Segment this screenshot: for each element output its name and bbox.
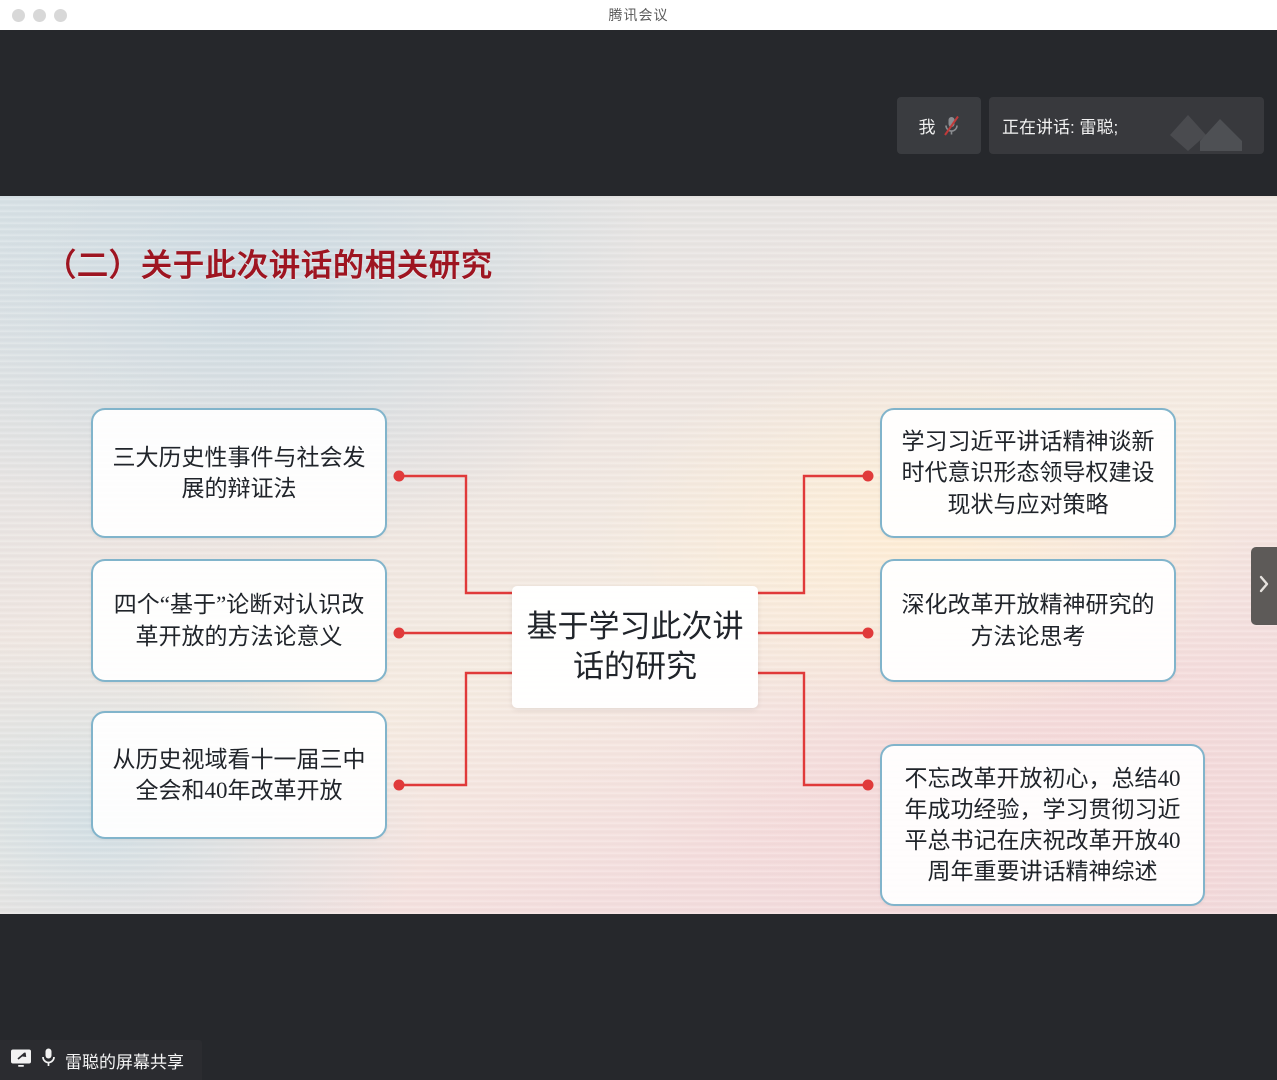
mindmap-node-left-3[interactable]: 从历史视域看十一届三中全会和40年改革开放 [91, 711, 387, 839]
active-speaker-label: 正在讲话: 雷聪; [1002, 113, 1118, 138]
window-title: 腾讯会议 [0, 5, 1277, 25]
shared-slide: （二）关于此次讲话的相关研究 [0, 196, 1277, 914]
mindmap-node-right-2[interactable]: 深化改革开放精神研究的方法论思考 [880, 559, 1176, 682]
node-label: 从历史视域看十一届三中全会和40年改革开放 [105, 744, 373, 806]
mindmap-node-left-2[interactable]: 四个“基于”论断对认识改革开放的方法论意义 [91, 559, 387, 682]
node-label: 不忘改革开放初心，总结40年成功经验，学习贯彻习近平总书记在庆祝改革开放40周年… [894, 763, 1191, 887]
active-speaker-tile[interactable]: 正在讲话: 雷聪; [989, 97, 1264, 154]
self-video-tile[interactable]: 我 [897, 97, 981, 154]
default-avatar-icon [1162, 97, 1258, 154]
meeting-stage: 我 正在讲话: 雷聪; （二）关于此次讲话的相关研究 [0, 30, 1277, 1080]
node-label: 四个“基于”论断对认识改革开放的方法论意义 [105, 589, 373, 651]
expand-panel-handle[interactable] [1251, 547, 1277, 625]
microphone-icon [41, 1047, 56, 1073]
participant-strip: 我 正在讲话: 雷聪; [897, 97, 1264, 154]
mic-muted-icon[interactable] [943, 115, 960, 137]
node-label: 深化改革开放精神研究的方法论思考 [894, 589, 1162, 651]
chevron-right-icon [1257, 573, 1271, 600]
screen-share-owner-label: 雷聪的屏幕共享 [65, 1048, 184, 1073]
mindmap-node-right-3[interactable]: 不忘改革开放初心，总结40年成功经验，学习贯彻习近平总书记在庆祝改革开放40周年… [880, 744, 1205, 906]
window-titlebar: 腾讯会议 [0, 0, 1277, 31]
self-tile-label: 我 [919, 113, 936, 138]
node-label: 基于学习此次讲话的研究 [524, 607, 746, 688]
screen-share-icon [10, 1048, 32, 1073]
mindmap-node-left-1[interactable]: 三大历史性事件与社会发展的辩证法 [91, 408, 387, 538]
mindmap-node-center[interactable]: 基于学习此次讲话的研究 [512, 586, 758, 708]
slide-title: （二）关于此次讲话的相关研究 [45, 240, 493, 285]
node-label: 三大历史性事件与社会发展的辩证法 [105, 442, 373, 504]
mindmap-node-right-1[interactable]: 学习习近平讲话精神谈新时代意识形态领导权建设现状与应对策略 [880, 408, 1176, 538]
node-label: 学习习近平讲话精神谈新时代意识形态领导权建设现状与应对策略 [894, 426, 1162, 519]
screen-share-status-bar: 雷聪的屏幕共享 [0, 1040, 202, 1080]
